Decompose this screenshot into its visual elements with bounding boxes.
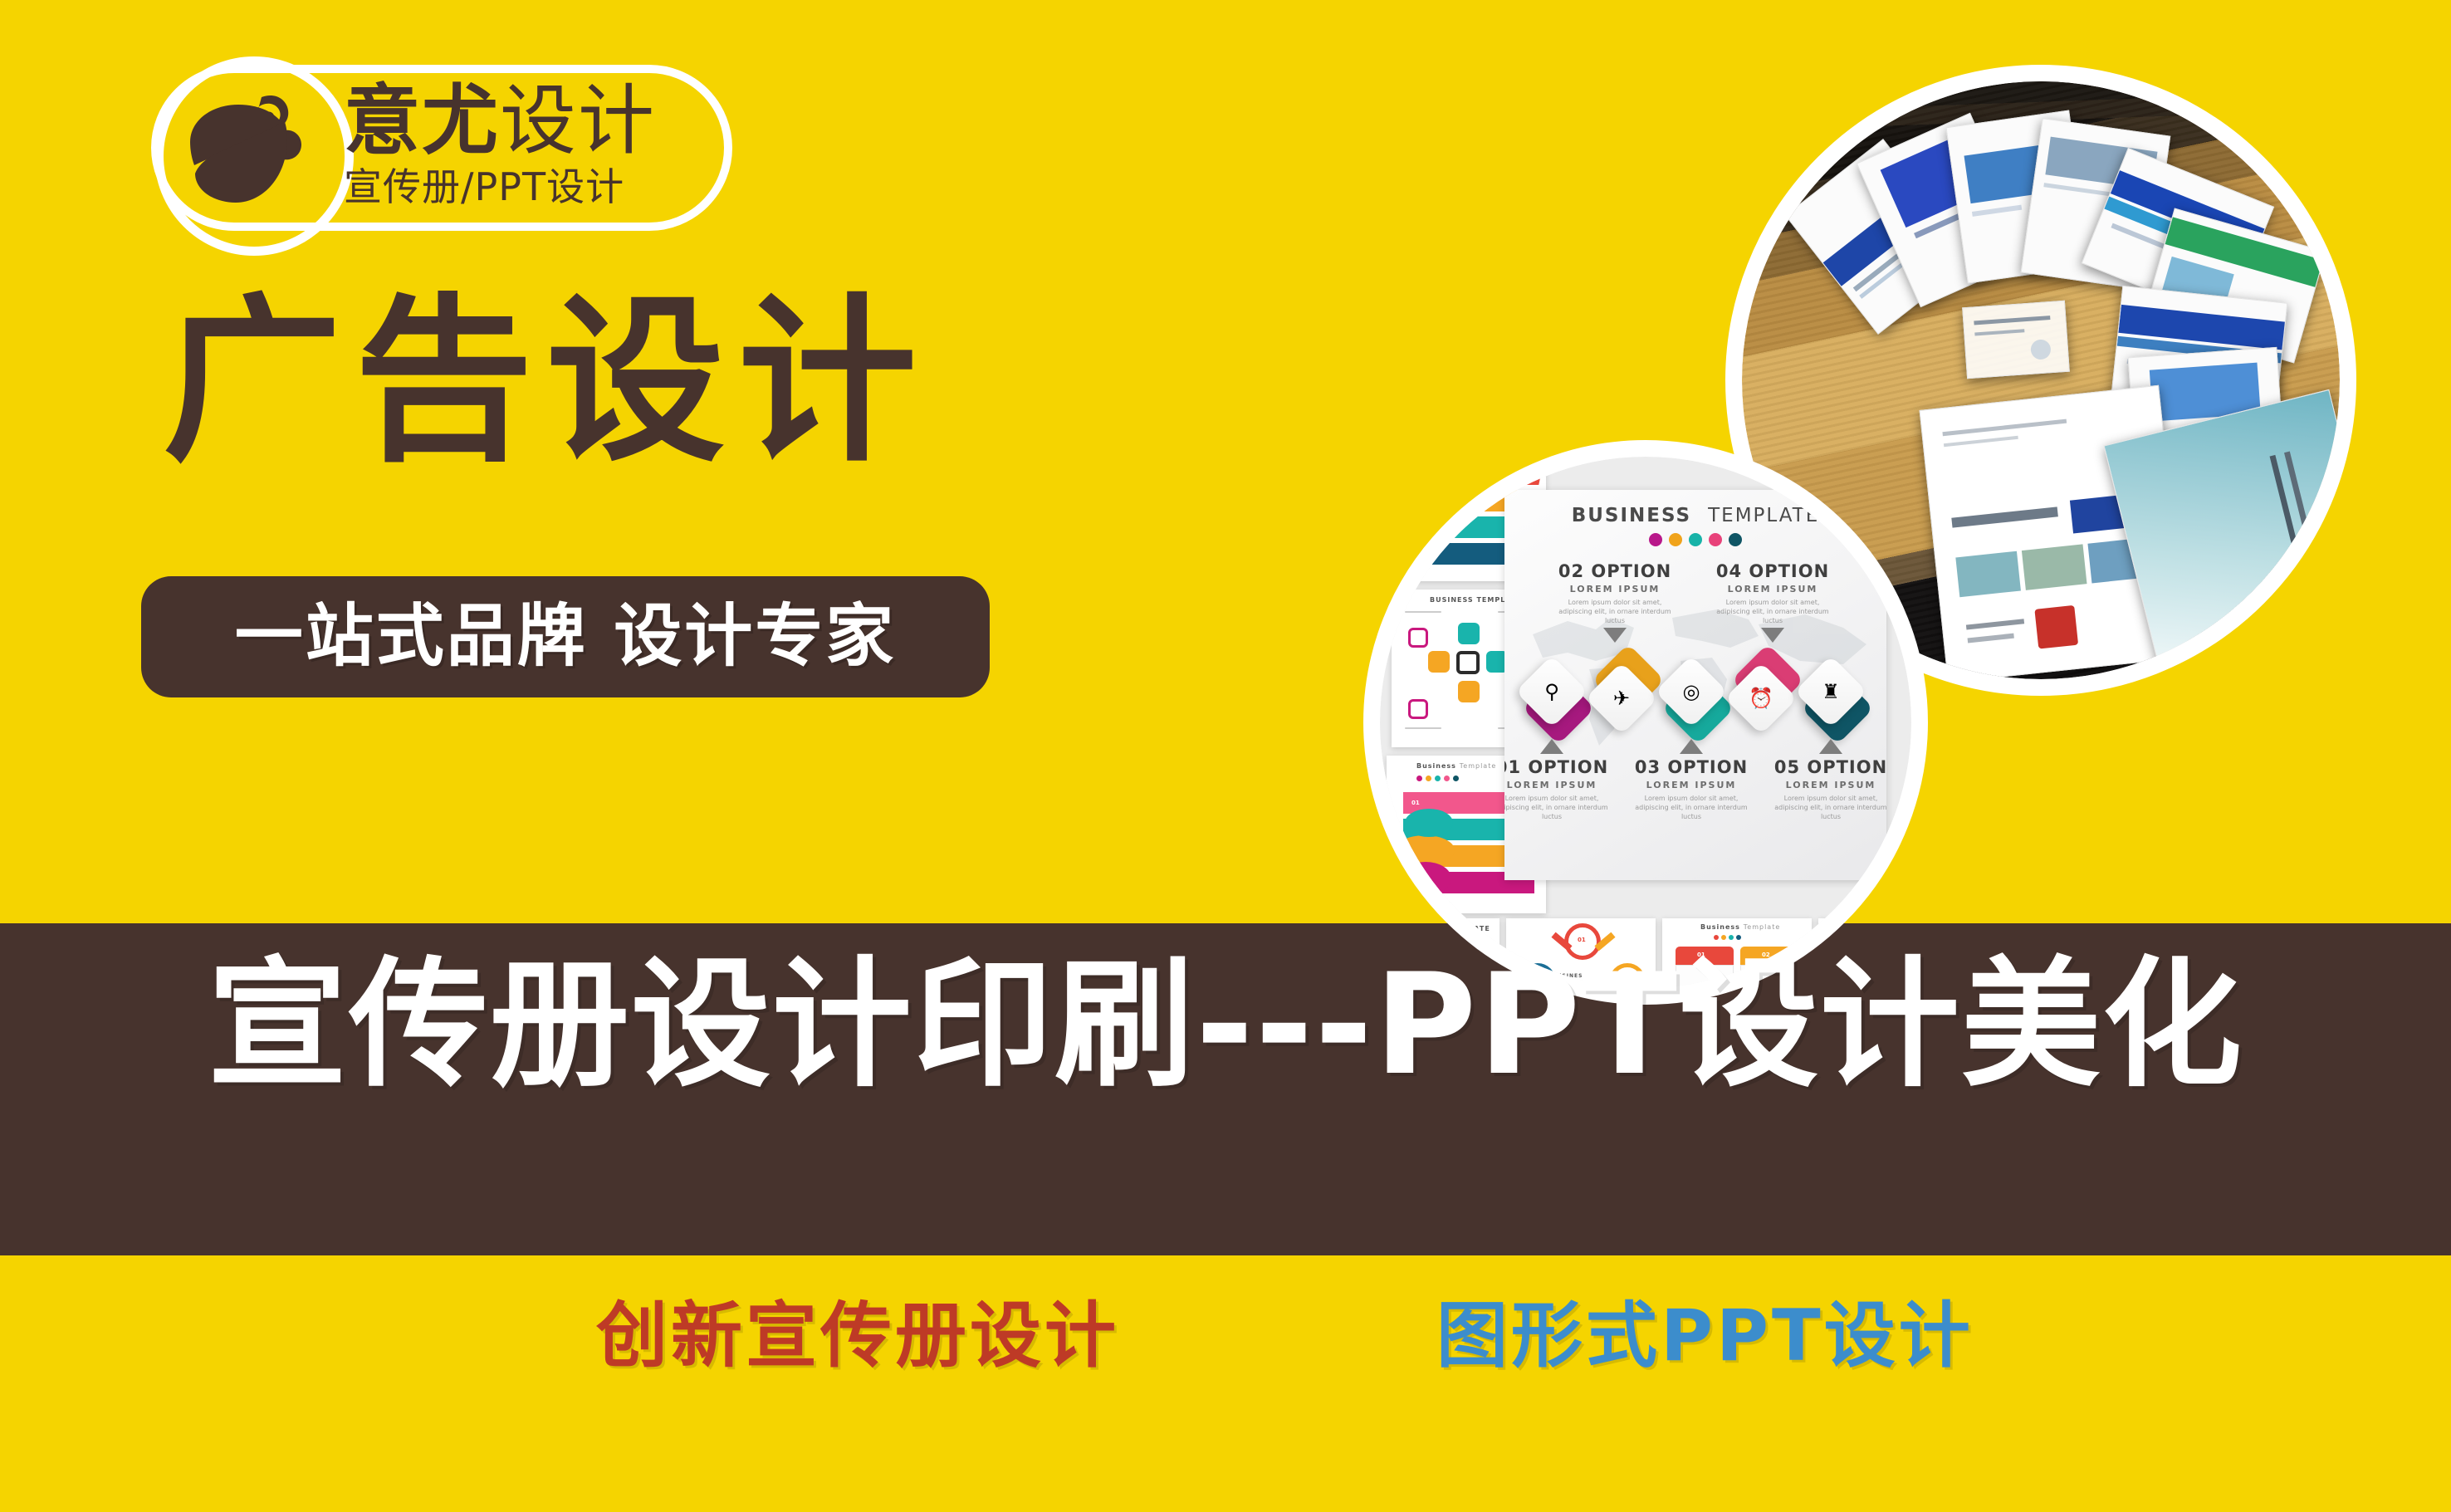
service-band-label: 宣传册设计印刷---PPT设计美化	[0, 955, 2451, 1094]
rocket-icon: ✈	[1596, 673, 1647, 724]
magnifier-icon: ⚲	[1526, 666, 1578, 717]
ppt-option-01: 01 OPTION LOREM IPSUM Lorem ipsum dolor …	[1504, 757, 1614, 821]
caption-ppt-design: 图形式PPT设计	[1436, 1300, 1974, 1372]
ppt-option-03: 03 OPTION LOREM IPSUM Lorem ipsum dolor …	[1629, 757, 1754, 821]
ppt-template-collage: BUSINESS TEMPLATE Business Template	[1363, 440, 1928, 1005]
brand-logo[interactable]: 意尤设计 宣传册/PPT设计	[151, 65, 732, 231]
status-badge: 一站式品牌 设计专家	[141, 576, 990, 697]
logo-brand-name: 意尤设计	[344, 78, 734, 164]
ppt-title-dots	[1504, 533, 1886, 546]
bird-leaf-mark-icon	[179, 81, 333, 235]
diamond-icon-02: ✈	[1585, 662, 1658, 735]
logo-tagline: 宣传册/PPT设计	[344, 164, 734, 209]
target-icon: ◎	[1666, 666, 1717, 717]
funnel-title: Business Template	[1416, 762, 1496, 770]
pointer-down-icon	[1761, 628, 1784, 643]
ppt-option-02: 02 OPTION LOREM IPSUM Lorem ipsum dolor …	[1553, 561, 1677, 625]
pointer-up-icon	[1819, 739, 1842, 754]
caption-brochure-design: 创新宣传册设计	[596, 1300, 1119, 1372]
pointer-up-icon	[1680, 739, 1703, 754]
badge-label: 一站式品牌 设计专家	[235, 603, 897, 671]
clock-icon: ⏰	[1735, 673, 1787, 724]
logo-text-lockup: 意尤设计 宣传册/PPT设计	[344, 78, 734, 232]
diamond-icon-04: ⏰	[1725, 662, 1798, 735]
ppt-option-05: 05 OPTION LOREM IPSUM Lorem ipsum dolor …	[1769, 757, 1886, 821]
map-thumb-title: Business	[1868, 925, 1908, 932]
diamond-icon-05: ♜	[1794, 655, 1867, 728]
poster-root: BUSINESS TEMPLATE Business Template	[0, 0, 2451, 1512]
business-card-holder	[1962, 301, 2070, 379]
ppt-option-04: 04 OPTION LOREM IPSUM Lorem ipsum dolor …	[1710, 561, 1835, 625]
ppt-slide-title: BUSINESS TEMPLATE	[1504, 505, 1886, 526]
ppt-main-slide: BUSINESS TEMPLATE	[1504, 490, 1886, 880]
matrix-small-title: BUSINESS TEMPLATE	[1398, 925, 1490, 932]
presentation-icon: ♜	[1805, 666, 1857, 717]
logo-circle-frame	[154, 56, 354, 256]
diamond-icon-03: ◎	[1655, 655, 1728, 728]
diamond-icon-01: ⚲	[1515, 655, 1588, 728]
pointer-down-icon	[1603, 628, 1627, 643]
steps-title: Business Template	[1700, 923, 1780, 931]
pointer-up-icon	[1540, 739, 1563, 754]
page-title: 广告设计	[163, 292, 930, 471]
